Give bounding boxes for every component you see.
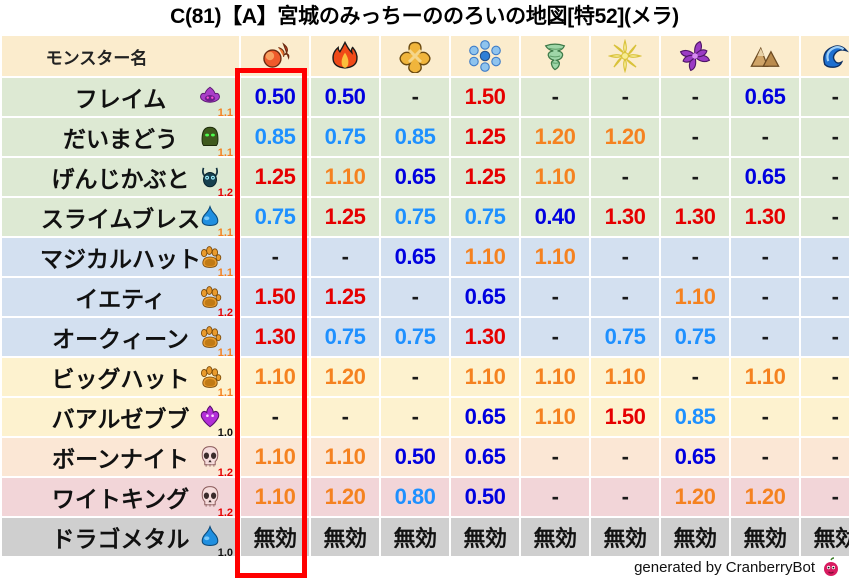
resistance-cell[interactable]: 0.65 — [731, 158, 799, 196]
column-header-explosion[interactable] — [381, 36, 449, 76]
resistance-cell[interactable]: 1.10 — [451, 238, 519, 276]
resistance-cell[interactable]: - — [801, 358, 849, 396]
header-row: モンスター名 — [2, 36, 849, 76]
resistance-cell[interactable]: 1.30 — [731, 198, 799, 236]
resistance-table: モンスター名 フレイム1.10.500.50-1.50---0.65-だいまどう… — [0, 34, 849, 558]
column-header-flame[interactable] — [311, 36, 379, 76]
monster-version-label: 1.2 — [218, 508, 233, 516]
resistance-cell[interactable]: - — [731, 318, 799, 356]
snowflake-icon — [468, 39, 502, 73]
monster-name-label: ドラゴメタル — [52, 526, 190, 552]
resistance-cell[interactable]: - — [591, 478, 659, 516]
monster-version-label: 1.2 — [218, 468, 233, 476]
resistance-cell[interactable]: - — [731, 398, 799, 436]
table-row: フレイム1.10.500.50-1.50---0.65- — [2, 78, 849, 116]
footer-text: generated by CranberryBot — [634, 559, 815, 576]
resistance-cell[interactable]: 1.10 — [591, 358, 659, 396]
resistance-cell[interactable]: 1.10 — [521, 398, 589, 436]
monster-version-label: 1.2 — [218, 188, 233, 196]
resistance-cell[interactable]: 0.65 — [451, 278, 519, 316]
resistance-cell[interactable]: 1.10 — [311, 438, 379, 476]
resistance-cell[interactable]: 0.50 — [451, 478, 519, 516]
resistance-cell[interactable]: - — [521, 478, 589, 516]
resistance-cell[interactable]: 1.10 — [731, 358, 799, 396]
resistance-cell[interactable]: - — [801, 238, 849, 276]
monster-name-label: マジカルハット — [40, 246, 201, 272]
resistance-cell[interactable]: - — [381, 278, 449, 316]
fire-meteor-icon — [258, 39, 292, 73]
resistance-cell[interactable]: 1.20 — [661, 478, 729, 516]
table-row: オークィーン1.11.300.750.751.30-0.750.75-- — [2, 318, 849, 356]
monster-version-label: 1.1 — [218, 148, 233, 156]
resistance-cell[interactable]: 0.85 — [241, 118, 309, 156]
monster-version-label: 1.1 — [218, 268, 233, 276]
resistance-cell[interactable]: 1.25 — [241, 158, 309, 196]
resistance-cell[interactable]: 無効 — [801, 518, 849, 556]
resistance-cell[interactable]: 無効 — [591, 518, 659, 556]
table-row: ボーンナイト1.21.101.100.500.65--0.65-- — [2, 438, 849, 476]
resistance-cell[interactable]: 1.30 — [661, 198, 729, 236]
resistance-cell[interactable]: 0.75 — [591, 318, 659, 356]
monster-name-label: スライムブレス — [41, 206, 200, 232]
monster-version-label: 1.1 — [218, 348, 233, 356]
monster-name-label: イエティ — [75, 286, 165, 312]
column-header-tornado[interactable] — [521, 36, 589, 76]
monster-name-cell[interactable]: ボーンナイト1.2 — [2, 438, 239, 476]
resistance-cell[interactable]: 無効 — [731, 518, 799, 556]
resistance-cell[interactable]: 0.75 — [311, 118, 379, 156]
monster-name-label: ボーンナイト — [52, 446, 189, 472]
column-header-mountain[interactable] — [731, 36, 799, 76]
wave-icon — [818, 39, 849, 73]
resistance-cell[interactable]: 1.20 — [731, 478, 799, 516]
monster-version-label: 1.1 — [218, 228, 233, 236]
resistance-cell[interactable]: - — [591, 78, 659, 116]
resistance-cell[interactable]: 1.30 — [241, 318, 309, 356]
resistance-cell[interactable]: 無効 — [241, 518, 309, 556]
monster-version-label: 1.0 — [218, 428, 233, 436]
resistance-cell[interactable]: - — [661, 358, 729, 396]
resistance-cell[interactable]: 0.75 — [661, 318, 729, 356]
monster-version-label: 1.1 — [218, 388, 233, 396]
column-header-dark-flower[interactable] — [661, 36, 729, 76]
column-header-monster-name: モンスター名 — [2, 36, 239, 76]
resistance-cell[interactable]: - — [591, 438, 659, 476]
monster-name-label: バアルゼブブ — [52, 406, 190, 432]
monster-name-label: フレイム — [75, 86, 167, 112]
resistance-cell[interactable]: 0.75 — [381, 198, 449, 236]
resistance-cell[interactable]: - — [241, 238, 309, 276]
resistance-cell[interactable]: 1.10 — [241, 358, 309, 396]
cranberry-icon — [821, 557, 841, 577]
resistance-cell[interactable]: 0.85 — [381, 118, 449, 156]
resistance-cell[interactable]: 1.25 — [311, 278, 379, 316]
resistance-cell[interactable]: - — [801, 78, 849, 116]
resistance-cell[interactable]: 0.75 — [451, 198, 519, 236]
resistance-cell[interactable]: 無効 — [521, 518, 589, 556]
footer: generated by CranberryBot — [634, 557, 841, 577]
resistance-cell[interactable]: 無効 — [311, 518, 379, 556]
resistance-cell[interactable]: - — [801, 198, 849, 236]
resistance-cell[interactable]: 1.20 — [591, 118, 659, 156]
resistance-cell[interactable]: - — [801, 278, 849, 316]
monster-version-label: 1.0 — [218, 548, 233, 556]
resistance-cell[interactable]: - — [661, 118, 729, 156]
resistance-cell[interactable]: - — [241, 398, 309, 436]
resistance-cell[interactable]: 1.30 — [591, 198, 659, 236]
resistance-cell[interactable]: 0.75 — [241, 198, 309, 236]
monster-name-cell[interactable]: だいまどう1.1 — [2, 118, 239, 156]
monster-name-label: だいまどう — [63, 126, 178, 152]
monster-version-label: 1.2 — [218, 308, 233, 316]
table-row: マジカルハット1.1--0.651.101.10---- — [2, 238, 849, 276]
resistance-cell[interactable]: 1.10 — [521, 358, 589, 396]
resistance-cell[interactable]: 1.10 — [311, 158, 379, 196]
resistance-cell[interactable]: 1.10 — [521, 158, 589, 196]
table-row: ドラゴメタル1.0無効無効無効無効無効無効無効無効無効 — [2, 518, 849, 556]
resistance-cell[interactable]: 1.25 — [451, 118, 519, 156]
resistance-cell[interactable]: - — [801, 118, 849, 156]
tornado-icon — [538, 39, 572, 73]
dark-flower-icon — [678, 39, 712, 73]
resistance-cell[interactable]: - — [661, 238, 729, 276]
resistance-table-wrap: モンスター名 フレイム1.10.500.50-1.50---0.65-だいまどう… — [0, 34, 849, 558]
resistance-cell[interactable]: 0.50 — [311, 78, 379, 116]
monster-name-label: オークィーン — [52, 326, 189, 352]
resistance-cell[interactable]: 0.75 — [311, 318, 379, 356]
resistance-cell[interactable]: 1.20 — [311, 358, 379, 396]
monster-name-cell[interactable]: バアルゼブブ1.0 — [2, 398, 239, 436]
column-header-fire-meteor[interactable] — [241, 36, 309, 76]
resistance-cell[interactable]: - — [381, 358, 449, 396]
resistance-cell[interactable]: 0.50 — [381, 438, 449, 476]
monster-name-cell[interactable]: スライムブレス1.1 — [2, 198, 239, 236]
monster-name-cell[interactable]: げんじかぶと1.2 — [2, 158, 239, 196]
resistance-cell[interactable]: - — [381, 398, 449, 436]
flame-icon — [328, 39, 362, 73]
resistance-cell[interactable]: 0.65 — [381, 238, 449, 276]
resistance-cell[interactable]: 1.25 — [451, 158, 519, 196]
resistance-cell[interactable]: - — [801, 158, 849, 196]
column-header-lightning-star[interactable] — [591, 36, 659, 76]
resistance-cell[interactable]: 0.65 — [381, 158, 449, 196]
table-row: だいまどう1.10.850.750.851.251.201.20--- — [2, 118, 849, 156]
resistance-cell[interactable]: 無効 — [661, 518, 729, 556]
monster-name-cell[interactable]: ワイトキング1.2 — [2, 478, 239, 516]
resistance-cell[interactable]: 1.10 — [241, 438, 309, 476]
resistance-cell[interactable]: - — [521, 278, 589, 316]
resistance-cell[interactable]: 1.20 — [521, 118, 589, 156]
resistance-cell[interactable]: 1.25 — [311, 198, 379, 236]
monster-name-cell[interactable]: オークィーン1.1 — [2, 318, 239, 356]
table-head: モンスター名 — [2, 36, 849, 76]
resistance-cell[interactable]: - — [801, 438, 849, 476]
resistance-cell[interactable]: - — [661, 78, 729, 116]
table-row: イエティ1.21.501.25-0.65--1.10-- — [2, 278, 849, 316]
monster-name-cell[interactable]: ビッグハット1.1 — [2, 358, 239, 396]
resistance-cell[interactable]: - — [731, 278, 799, 316]
resistance-cell[interactable]: 0.65 — [451, 438, 519, 476]
mountain-icon — [748, 39, 782, 73]
resistance-cell[interactable]: - — [801, 318, 849, 356]
resistance-cell[interactable]: 1.50 — [591, 398, 659, 436]
resistance-cell[interactable]: 1.10 — [241, 478, 309, 516]
resistance-cell[interactable]: 1.10 — [451, 358, 519, 396]
resistance-cell[interactable]: 無効 — [381, 518, 449, 556]
resistance-cell[interactable]: 0.50 — [241, 78, 309, 116]
page-title: C(81)【A】宮城のみっちーののろいの地図[特52](メラ) — [0, 0, 849, 34]
table-row: ワイトキング1.21.101.200.800.50--1.201.20- — [2, 478, 849, 516]
resistance-cell[interactable]: - — [801, 478, 849, 516]
lightning-star-icon — [608, 39, 642, 73]
resistance-cell[interactable]: - — [521, 78, 589, 116]
table-row: スライムブレス1.10.751.250.750.750.401.301.301.… — [2, 198, 849, 236]
resistance-cell[interactable]: - — [311, 398, 379, 436]
monster-name-label: げんじかぶと — [52, 166, 190, 192]
resistance-cell[interactable]: 1.20 — [311, 478, 379, 516]
resistance-cell[interactable]: - — [731, 438, 799, 476]
resistance-cell[interactable]: 0.80 — [381, 478, 449, 516]
table-row: げんじかぶと1.21.251.100.651.251.10--0.65- — [2, 158, 849, 196]
resistance-cell[interactable]: 0.40 — [521, 198, 589, 236]
monster-name-label: ワイトキング — [52, 486, 189, 512]
explosion-icon — [398, 39, 432, 73]
resistance-cell[interactable]: - — [521, 438, 589, 476]
resistance-cell[interactable]: - — [591, 238, 659, 276]
resistance-cell[interactable]: 0.85 — [661, 398, 729, 436]
monster-name-cell[interactable]: マジカルハット1.1 — [2, 238, 239, 276]
monster-name-cell[interactable]: ドラゴメタル1.0 — [2, 518, 239, 556]
monster-version-label: 1.1 — [218, 108, 233, 116]
resistance-cell[interactable]: 0.65 — [661, 438, 729, 476]
column-header-snowflake[interactable] — [451, 36, 519, 76]
resistance-cell[interactable]: - — [661, 158, 729, 196]
resistance-cell[interactable]: 1.50 — [451, 78, 519, 116]
resistance-cell[interactable]: 無効 — [451, 518, 519, 556]
resistance-cell[interactable]: 0.65 — [731, 78, 799, 116]
table-row: バアルゼブブ1.0---0.651.101.500.85-- — [2, 398, 849, 436]
resistance-cell[interactable]: 1.30 — [451, 318, 519, 356]
resistance-cell[interactable]: - — [801, 398, 849, 436]
monster-name-cell[interactable]: フレイム1.1 — [2, 78, 239, 116]
resistance-cell[interactable]: 1.50 — [241, 278, 309, 316]
resistance-cell[interactable]: - — [521, 318, 589, 356]
resistance-cell[interactable]: - — [731, 238, 799, 276]
resistance-cell[interactable]: 1.10 — [521, 238, 589, 276]
resistance-cell[interactable]: 1.10 — [661, 278, 729, 316]
monster-name-cell[interactable]: イエティ1.2 — [2, 278, 239, 316]
resistance-cell[interactable]: 0.75 — [381, 318, 449, 356]
resistance-cell[interactable]: - — [381, 78, 449, 116]
resistance-cell[interactable]: - — [311, 238, 379, 276]
resistance-cell[interactable]: 0.65 — [451, 398, 519, 436]
column-header-wave[interactable] — [801, 36, 849, 76]
table-row: ビッグハット1.11.101.20-1.101.101.10-1.10- — [2, 358, 849, 396]
monster-name-label: ビッグハット — [52, 366, 190, 392]
resistance-cell[interactable]: - — [591, 158, 659, 196]
resistance-cell[interactable]: - — [731, 118, 799, 156]
resistance-cell[interactable]: - — [591, 278, 659, 316]
table-body: フレイム1.10.500.50-1.50---0.65-だいまどう1.10.85… — [2, 78, 849, 556]
